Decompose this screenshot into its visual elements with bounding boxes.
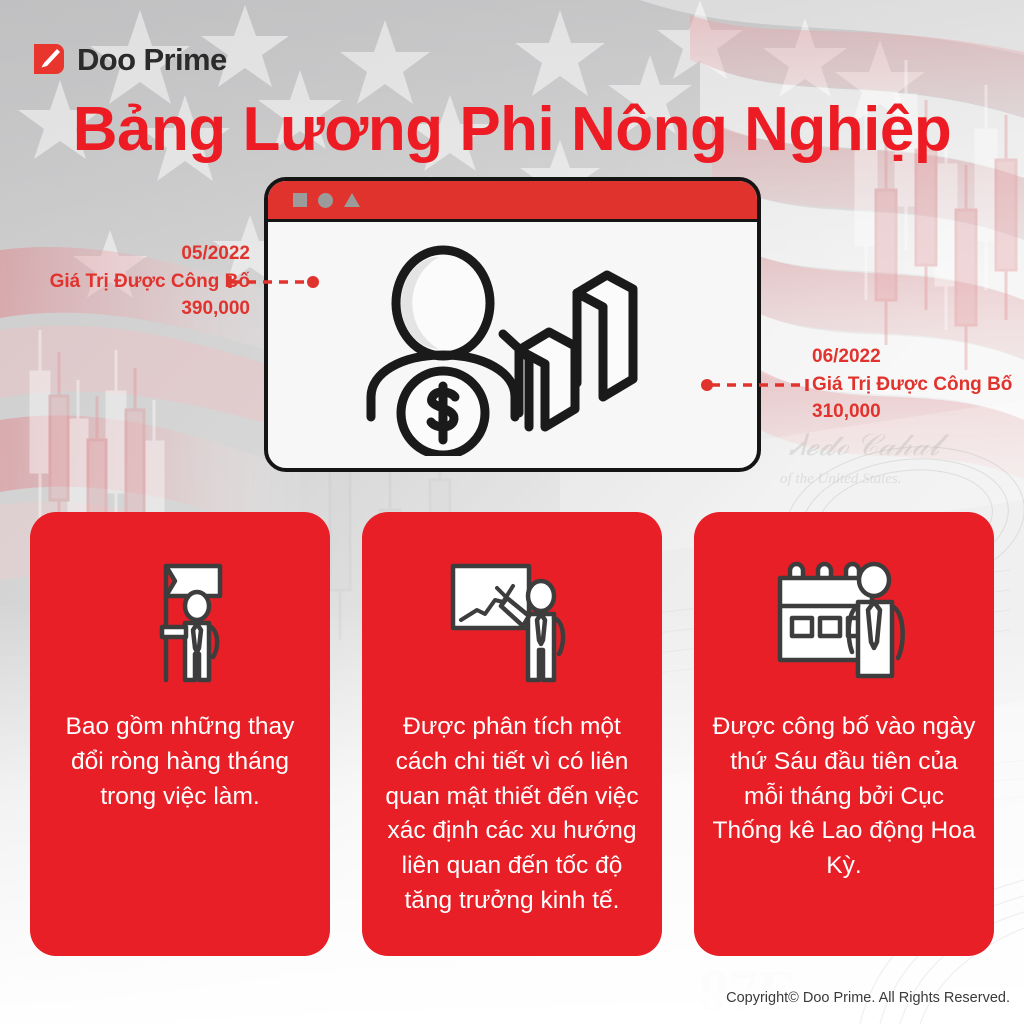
feature-card[interactable]: Bao gồm những thay đổi ròng hàng tháng t… — [30, 512, 330, 956]
feature-card-text: Bao gồm những thay đổi ròng hàng tháng t… — [30, 710, 330, 814]
svg-text:Ꮧ𝓮𝓭ℴ 𝒞𝒶𝒽𝒶𝓵: Ꮧ𝓮𝓭ℴ 𝒞𝒶𝒽𝒶𝓵 — [789, 429, 950, 462]
businessman-with-flag-icon — [122, 546, 238, 696]
feature-card-text: Được phân tích một cách chi tiết vì có l… — [362, 710, 662, 919]
svg-text:of the United States.: of the United States. — [780, 471, 902, 487]
annotation-left-date: 05/2022 — [0, 240, 250, 268]
feature-card-list: Bao gồm những thay đổi ròng hàng tháng t… — [30, 512, 994, 956]
annotation-left-value: 390,000 — [0, 295, 250, 323]
annotation-right: 06/2022 Giá Trị Được Công Bố 310,000 — [812, 343, 1024, 426]
feature-card[interactable]: Được công bố vào ngày thứ Sáu đầu tiên c… — [694, 512, 994, 956]
leader-line-right — [700, 378, 810, 392]
businessman-presenting-chart-icon — [447, 546, 577, 696]
triangle-icon — [344, 193, 360, 207]
page-title: Bảng Lương Phi Nông Nghiệp — [0, 97, 1024, 162]
annotation-left-label: Giá Trị Được Công Bố — [0, 268, 250, 296]
brand-name: Doo Prime — [77, 44, 227, 75]
circle-icon — [318, 193, 333, 208]
annotation-right-label: Giá Trị Được Công Bố — [812, 371, 1024, 399]
annotation-left: 05/2022 Giá Trị Được Công Bố 390,000 — [0, 240, 250, 323]
feature-card[interactable]: Được phân tích một cách chi tiết vì có l… — [362, 512, 662, 956]
square-icon — [293, 193, 307, 207]
annotation-right-value: 310,000 — [812, 398, 1024, 426]
annotation-right-date: 06/2022 — [812, 343, 1024, 371]
window-canvas — [268, 222, 757, 469]
doo-prime-logo-mark-icon — [32, 42, 66, 76]
feature-card-text: Được công bố vào ngày thứ Sáu đầu tiên c… — [694, 710, 994, 884]
calendar-with-businessman-icon — [774, 546, 914, 696]
person-with-dollar-coin-and-bar-chart-icon — [363, 231, 663, 461]
window-titlebar — [268, 181, 757, 222]
brand-logo[interactable]: Doo Prime — [32, 42, 227, 76]
browser-window-mockup — [264, 177, 761, 472]
copyright-notice: Copyright© Doo Prime. All Rights Reserve… — [726, 990, 1010, 1006]
